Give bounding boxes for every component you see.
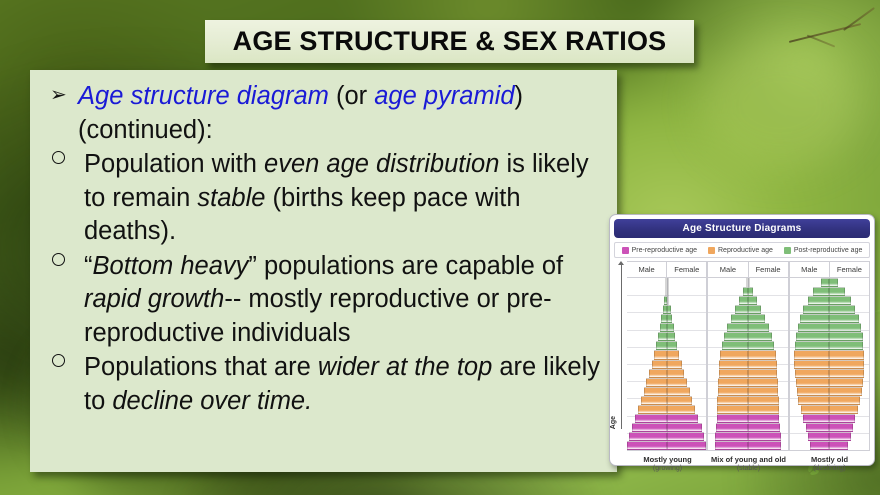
- bar-male: [803, 305, 829, 314]
- male-side: [627, 296, 667, 305]
- male-side: [790, 332, 830, 341]
- bar-female: [667, 341, 678, 350]
- age-class-row: [708, 341, 787, 350]
- bar-male: [806, 423, 830, 432]
- bullet-text-segment: Bottom heavy: [93, 252, 249, 280]
- male-side: [708, 314, 748, 323]
- bar-female: [748, 378, 778, 387]
- age-class-row: [627, 305, 706, 314]
- bar-male: [797, 387, 830, 396]
- bar-female: [667, 314, 673, 323]
- column-header-female: Female: [748, 262, 788, 277]
- female-side: [829, 432, 869, 441]
- bar-female: [829, 341, 863, 350]
- age-class-row: [708, 414, 787, 423]
- male-side: [627, 387, 667, 396]
- bar-male: [717, 396, 748, 405]
- bar-male: [800, 314, 829, 323]
- male-side: [708, 441, 748, 450]
- panel-column-headers: MaleFemale: [627, 261, 707, 278]
- background-highlight-2: [700, 40, 860, 170]
- female-side: [667, 323, 707, 332]
- bar-female: [748, 405, 779, 414]
- figure-legend: Pre-reproductive ageReproductive agePost…: [614, 242, 870, 258]
- bar-male: [795, 369, 830, 378]
- male-side: [708, 369, 748, 378]
- female-side: [829, 414, 869, 423]
- bar-female: [829, 441, 848, 450]
- bar-female: [829, 278, 838, 287]
- age-class-row: [790, 405, 869, 414]
- age-class-row: [790, 387, 869, 396]
- bar-male: [641, 396, 667, 405]
- age-class-row: [790, 305, 869, 314]
- age-class-row: [790, 296, 869, 305]
- age-class-row: [790, 323, 869, 332]
- bar-male: [658, 332, 667, 341]
- bar-female: [748, 278, 750, 287]
- panel-column-headers: MaleFemale: [708, 261, 788, 278]
- male-side: [708, 396, 748, 405]
- bar-male: [735, 305, 748, 314]
- gridline-horizontal: [708, 450, 787, 451]
- female-side: [748, 369, 788, 378]
- male-side: [627, 396, 667, 405]
- bar-male: [795, 341, 829, 350]
- bar-female: [829, 323, 861, 332]
- female-side: [748, 323, 788, 332]
- bar-male: [810, 441, 829, 450]
- age-class-row: [627, 414, 706, 423]
- age-class-row: [790, 360, 869, 369]
- male-side: [790, 314, 830, 323]
- female-side: [829, 341, 869, 350]
- bar-male: [716, 423, 748, 432]
- bar-female: [829, 405, 858, 414]
- bar-female: [829, 360, 864, 369]
- age-class-row: [627, 350, 706, 359]
- bar-male: [656, 341, 667, 350]
- female-side: [667, 423, 707, 432]
- legend-swatch-icon: [708, 247, 715, 254]
- bullet-text-segment: (or: [329, 82, 374, 110]
- pyramid-bars: [790, 278, 869, 450]
- bar-female: [748, 323, 769, 332]
- bar-female: [748, 287, 753, 296]
- bar-female: [667, 414, 699, 423]
- age-class-row: [790, 350, 869, 359]
- female-side: [748, 296, 788, 305]
- bar-female: [667, 378, 687, 387]
- male-side: [627, 314, 667, 323]
- female-side: [829, 405, 869, 414]
- pyramid-bars: [708, 278, 787, 450]
- age-class-row: [708, 287, 787, 296]
- bar-female: [667, 387, 690, 396]
- bar-female: [667, 369, 684, 378]
- age-class-row: [790, 441, 869, 450]
- male-side: [627, 332, 667, 341]
- male-side: [708, 278, 748, 287]
- circle-bullet: [52, 253, 65, 266]
- male-side: [627, 350, 667, 359]
- female-side: [748, 405, 788, 414]
- female-side: [667, 278, 707, 287]
- age-class-row: [708, 378, 787, 387]
- gridline-horizontal: [627, 450, 706, 451]
- male-side: [790, 414, 830, 423]
- bar-male: [715, 432, 748, 441]
- column-header-female: Female: [666, 262, 706, 277]
- panel-plot-area: [790, 278, 870, 451]
- female-side: [829, 332, 869, 341]
- bar-female: [748, 432, 781, 441]
- legend-label: Post-reproductive age: [794, 247, 862, 254]
- arrow-bullet: ➢: [50, 78, 67, 112]
- male-side: [790, 323, 830, 332]
- age-class-row: [708, 332, 787, 341]
- female-side: [667, 396, 707, 405]
- bar-male: [803, 414, 829, 423]
- bullet-text-segment: rapid growth: [84, 285, 224, 313]
- legend-entry: Pre-reproductive age: [622, 247, 697, 254]
- male-side: [708, 432, 748, 441]
- bar-female: [829, 396, 860, 405]
- age-axis: Age: [614, 261, 627, 451]
- male-side: [627, 441, 667, 450]
- age-class-row: [708, 278, 787, 287]
- axis-line: [621, 263, 622, 429]
- age-class-row: [708, 350, 787, 359]
- bullet-item: Populations that are wider at the top ar…: [38, 351, 609, 418]
- female-side: [667, 369, 707, 378]
- age-class-row: [708, 323, 787, 332]
- bar-female: [829, 350, 864, 359]
- age-class-row: [790, 432, 869, 441]
- bar-male: [821, 278, 830, 287]
- male-side: [708, 296, 748, 305]
- bullet-text-segment: ” populations are capable of: [248, 252, 563, 280]
- female-side: [748, 314, 788, 323]
- female-side: [748, 287, 788, 296]
- age-class-row: [627, 405, 706, 414]
- bar-male: [632, 423, 667, 432]
- bar-male: [796, 332, 829, 341]
- male-side: [790, 432, 830, 441]
- age-class-row: [627, 296, 706, 305]
- bar-female: [667, 405, 696, 414]
- female-side: [829, 323, 869, 332]
- page-title: AGE STRUCTURE & SEX RATIOS: [233, 26, 667, 57]
- bar-female: [829, 423, 853, 432]
- age-class-row: [627, 441, 706, 450]
- bar-male: [724, 332, 748, 341]
- panel-plot-area: [708, 278, 788, 451]
- bar-female: [829, 432, 850, 441]
- bar-female: [667, 350, 680, 359]
- age-class-row: [708, 305, 787, 314]
- age-class-row: [790, 369, 869, 378]
- bar-male: [638, 405, 667, 414]
- age-class-row: [627, 378, 706, 387]
- bar-female: [667, 360, 682, 369]
- age-class-row: [790, 287, 869, 296]
- age-class-row: [627, 332, 706, 341]
- male-side: [708, 305, 748, 314]
- male-side: [708, 423, 748, 432]
- male-side: [627, 423, 667, 432]
- bar-female: [748, 423, 780, 432]
- bullet-text-segment: decline over time.: [112, 387, 312, 415]
- bar-male: [719, 360, 748, 369]
- male-side: [790, 341, 830, 350]
- female-side: [667, 305, 707, 314]
- circle-bullet: [52, 354, 65, 367]
- column-header-male: Male: [790, 262, 829, 277]
- male-side: [627, 323, 667, 332]
- bar-male: [808, 432, 829, 441]
- female-side: [748, 396, 788, 405]
- bar-female: [748, 441, 781, 450]
- bar-male: [635, 414, 667, 423]
- legend-entry: Reproductive age: [708, 247, 773, 254]
- female-side: [748, 378, 788, 387]
- male-side: [790, 405, 830, 414]
- bullet-text-segment: even age distribution: [264, 150, 499, 178]
- bullet-text-segment: stable: [197, 184, 265, 212]
- age-class-row: [627, 341, 706, 350]
- age-class-row: [627, 432, 706, 441]
- bullet-item: “Bottom heavy” populations are capable o…: [38, 250, 609, 351]
- bullet-text-segment: Age structure diagram: [78, 82, 329, 110]
- figure-title: Age Structure Diagrams: [614, 219, 870, 238]
- bullet-item: Population with even age distribution is…: [38, 148, 609, 249]
- bar-male: [794, 350, 829, 359]
- male-side: [790, 278, 830, 287]
- age-class-row: [627, 287, 706, 296]
- female-side: [748, 414, 788, 423]
- age-class-row: [627, 323, 706, 332]
- axis-label: Age: [610, 416, 617, 429]
- age-class-row: [708, 360, 787, 369]
- male-side: [627, 287, 667, 296]
- male-side: [790, 305, 830, 314]
- bar-male: [646, 378, 666, 387]
- female-side: [829, 314, 869, 323]
- female-side: [748, 432, 788, 441]
- bar-female: [667, 441, 707, 450]
- male-side: [790, 296, 830, 305]
- figure-body: Age MaleFemaleMaleFemaleMaleFemale: [614, 261, 870, 451]
- bar-female: [829, 332, 862, 341]
- female-side: [829, 378, 869, 387]
- panel-caption: Mix of young and old(stable): [708, 451, 789, 473]
- female-side: [667, 350, 707, 359]
- male-side: [790, 287, 830, 296]
- female-side: [667, 378, 707, 387]
- bar-male: [718, 387, 748, 396]
- pyramid-panel: MaleFemale: [789, 261, 870, 451]
- female-side: [829, 360, 869, 369]
- male-side: [627, 378, 667, 387]
- bar-female: [667, 305, 671, 314]
- age-class-row: [627, 423, 706, 432]
- bar-female: [829, 369, 864, 378]
- male-side: [790, 423, 830, 432]
- male-side: [708, 414, 748, 423]
- bar-female: [667, 287, 669, 296]
- female-side: [667, 414, 707, 423]
- pyramid-panels: MaleFemaleMaleFemaleMaleFemale: [627, 261, 870, 451]
- bar-male: [739, 296, 748, 305]
- age-class-row: [790, 378, 869, 387]
- male-side: [627, 432, 667, 441]
- age-class-row: [708, 423, 787, 432]
- female-side: [829, 441, 869, 450]
- female-side: [667, 296, 707, 305]
- bar-female: [829, 296, 851, 305]
- age-class-row: [708, 369, 787, 378]
- bar-male: [727, 323, 748, 332]
- bar-female: [667, 296, 670, 305]
- bar-female: [829, 305, 855, 314]
- bar-male: [649, 369, 666, 378]
- female-side: [748, 360, 788, 369]
- panel-column-headers: MaleFemale: [790, 261, 870, 278]
- male-side: [708, 323, 748, 332]
- female-side: [748, 278, 788, 287]
- female-side: [748, 423, 788, 432]
- bar-male: [627, 441, 667, 450]
- bar-male: [798, 396, 829, 405]
- female-side: [829, 369, 869, 378]
- female-side: [667, 432, 707, 441]
- age-class-row: [708, 387, 787, 396]
- pyramid-bars: [627, 278, 706, 450]
- male-side: [627, 369, 667, 378]
- bar-female: [748, 396, 779, 405]
- panel-caption-sub: (stable): [708, 464, 789, 473]
- bar-female: [748, 350, 776, 359]
- male-side: [627, 341, 667, 350]
- female-side: [829, 396, 869, 405]
- bar-female: [667, 396, 693, 405]
- female-side: [667, 360, 707, 369]
- legend-swatch-icon: [784, 247, 791, 254]
- bar-female: [748, 414, 779, 423]
- female-side: [829, 287, 869, 296]
- bullet-text-segment: wider at the top: [318, 353, 492, 381]
- male-side: [627, 360, 667, 369]
- male-side: [708, 350, 748, 359]
- bar-female: [667, 423, 702, 432]
- bar-female: [748, 341, 774, 350]
- bar-female: [829, 414, 855, 423]
- male-side: [708, 360, 748, 369]
- age-class-row: [627, 369, 706, 378]
- bar-male: [654, 350, 667, 359]
- male-side: [790, 441, 830, 450]
- slide-title-box: AGE STRUCTURE & SEX RATIOS: [205, 20, 694, 63]
- panel-caption: Mostly old(declining): [789, 451, 870, 473]
- male-side: [790, 396, 830, 405]
- bullet-text-segment: Populations that are: [84, 353, 318, 381]
- pyramid-panel: MaleFemale: [627, 261, 707, 451]
- bar-female: [829, 378, 863, 387]
- bar-female: [748, 314, 765, 323]
- age-class-row: [790, 314, 869, 323]
- age-class-row: [790, 414, 869, 423]
- figure-captions: Mostly young(growing)Mix of young and ol…: [627, 451, 870, 473]
- age-class-row: [708, 296, 787, 305]
- bar-male: [660, 323, 667, 332]
- age-class-row: [708, 396, 787, 405]
- bar-male: [715, 441, 748, 450]
- bullet-text-segment: Population with: [84, 150, 264, 178]
- female-side: [748, 341, 788, 350]
- female-side: [748, 387, 788, 396]
- bar-male: [731, 314, 748, 323]
- gridline-horizontal: [790, 450, 869, 451]
- bar-male: [720, 350, 748, 359]
- age-class-row: [627, 396, 706, 405]
- male-side: [708, 332, 748, 341]
- bullet-text-segment: “: [84, 252, 93, 280]
- age-class-row: [790, 332, 869, 341]
- panel-caption-sub: (declining): [789, 464, 870, 473]
- legend-label: Reproductive age: [718, 247, 773, 254]
- bar-male: [801, 405, 830, 414]
- panel-caption-sub: (growing): [627, 464, 708, 473]
- male-side: [790, 369, 830, 378]
- pyramid-panel: MaleFemale: [707, 261, 788, 451]
- female-side: [667, 314, 707, 323]
- panel-caption-main: Mostly young(growing): [627, 455, 708, 473]
- male-side: [627, 414, 667, 423]
- bar-female: [667, 278, 669, 287]
- male-side: [627, 305, 667, 314]
- bar-male: [719, 369, 748, 378]
- column-header-male: Male: [627, 262, 666, 277]
- age-class-row: [708, 441, 787, 450]
- bar-female: [748, 305, 761, 314]
- panel-caption-main: Mostly old(declining): [789, 455, 870, 473]
- male-side: [790, 387, 830, 396]
- bar-male: [717, 414, 748, 423]
- bar-male: [798, 323, 830, 332]
- circle-bullet: [52, 151, 65, 164]
- bar-male: [722, 341, 748, 350]
- bar-male: [652, 360, 667, 369]
- bar-female: [829, 387, 862, 396]
- column-header-female: Female: [829, 262, 869, 277]
- bar-male: [644, 387, 667, 396]
- bar-female: [829, 287, 845, 296]
- legend-swatch-icon: [622, 247, 629, 254]
- bar-male: [717, 405, 748, 414]
- age-class-row: [627, 314, 706, 323]
- male-side: [708, 287, 748, 296]
- bar-female: [748, 296, 757, 305]
- bar-male: [808, 296, 830, 305]
- legend-entry: Post-reproductive age: [784, 247, 862, 254]
- female-side: [748, 305, 788, 314]
- age-class-row: [790, 396, 869, 405]
- age-class-row: [790, 341, 869, 350]
- age-class-row: [708, 432, 787, 441]
- bar-female: [667, 332, 676, 341]
- male-side: [790, 360, 830, 369]
